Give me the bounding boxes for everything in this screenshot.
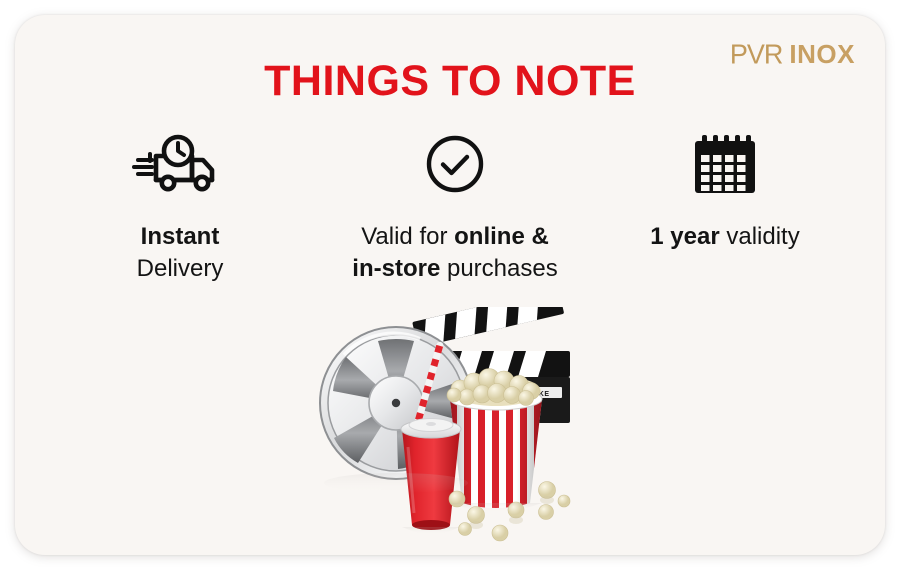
feature-list: Instant Delivery Valid for online & in-s… [55,133,845,284]
feature-line1-prefix: Valid for [361,223,454,250]
feature-caption-rest: Delivery [137,255,224,282]
feature-caption: Valid for online & in-store purchases [352,221,557,284]
feature-caption-bold: Instant [141,223,220,250]
promo-banner: PVR INOX THINGS TO NOTE [0,0,900,570]
feature-caption: Instant Delivery [137,221,224,284]
calendar-icon [692,133,758,195]
delivery-truck-clock-icon [132,133,228,195]
cinema-snacks-photo: ROLL SCENE TAKE [300,307,640,555]
feature-item-valid-online-instore: Valid for online & in-store purchases [305,133,605,284]
promo-card: PVR INOX THINGS TO NOTE [15,15,885,555]
feature-caption-rest: validity [720,223,800,250]
page-title: THINGS TO NOTE [15,57,885,106]
feature-caption: 1 year validity [650,221,799,253]
feature-caption-bold: 1 year [650,223,719,250]
feature-item-one-year-validity: 1 year validity [605,133,845,253]
check-circle-icon [424,133,486,195]
feature-line2-suffix: purchases [440,255,557,282]
feature-item-instant-delivery: Instant Delivery [55,133,305,284]
feature-line2-bold: in-store [352,255,440,282]
feature-line1-bold: online & [454,223,549,250]
